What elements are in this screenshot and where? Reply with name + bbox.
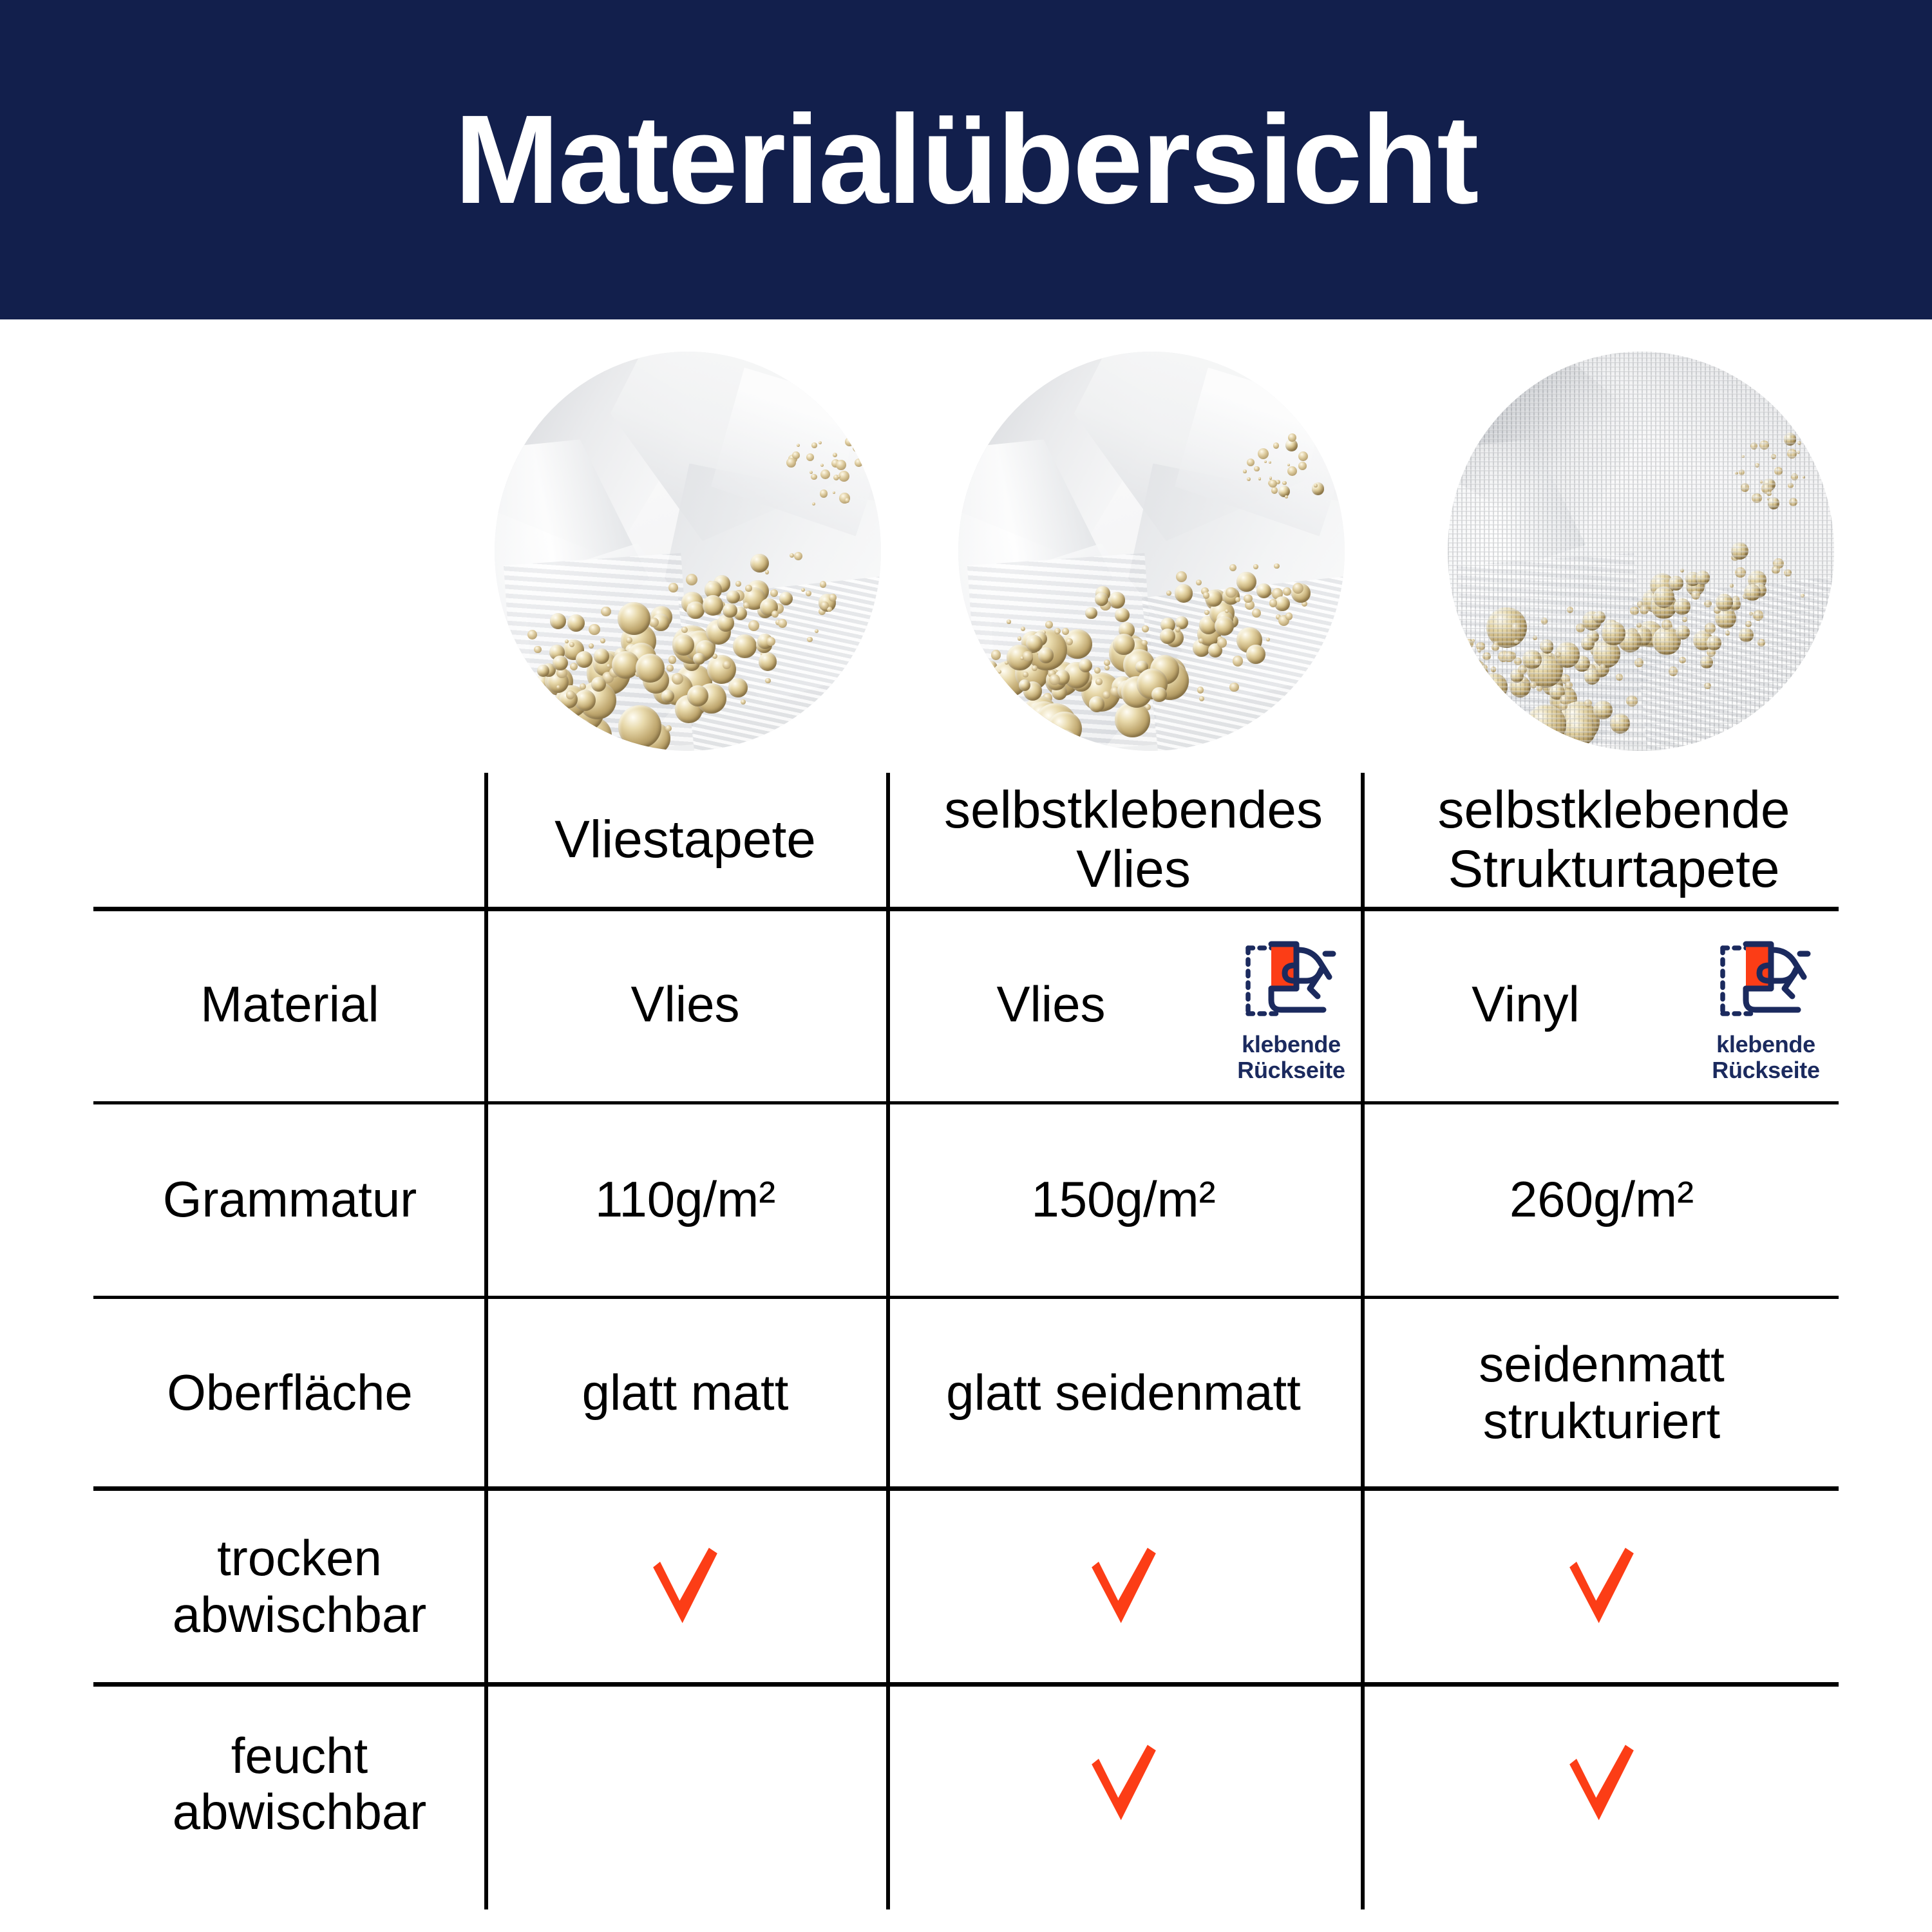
cell-grammatur-col2: 150g/m²	[890, 1104, 1357, 1295]
peel-sticker-hand-icon	[1238, 933, 1345, 1029]
cell-grammatur-col3: 260g/m²	[1365, 1104, 1839, 1295]
column-header-3: selbstklebende Strukturtapete	[1376, 773, 1839, 907]
check-feucht-col3	[1365, 1687, 1839, 1880]
cell-oberflaeche-col1: glatt matt	[488, 1299, 882, 1486]
check-feucht-col2	[890, 1687, 1357, 1880]
cell-oberflaeche-col3: seidenmatt strukturiert	[1365, 1299, 1839, 1486]
peel-sticker-hand-icon	[1713, 933, 1819, 1029]
cell-material-col1: Vlies	[488, 909, 882, 1100]
checkmark-icon	[1560, 1739, 1643, 1829]
row-divider-oberflaeche	[93, 1486, 1839, 1491]
check-trocken-col1	[488, 1491, 882, 1682]
checkmark-icon	[643, 1542, 727, 1632]
checkmark-icon	[1082, 1542, 1166, 1632]
check-trocken-col3	[1365, 1491, 1839, 1682]
column-header-2: selbstklebendes Vlies	[902, 773, 1352, 907]
sticky-back-label-col2: klebende Rückseite	[1237, 1032, 1345, 1084]
cell-material-col2: Vlies	[890, 909, 1212, 1100]
row-label-trocken-abwischbar: trocken abwischbar	[97, 1491, 483, 1682]
check-trocken-col2	[890, 1491, 1357, 1682]
sticky-back-badge-col2: klebende Rückseite	[1211, 933, 1372, 1084]
row-label-oberflaeche: Oberfläche	[97, 1299, 483, 1486]
checkmark-icon	[1082, 1739, 1166, 1829]
sticky-back-label-col3: klebende Rückseite	[1712, 1032, 1819, 1084]
checkmark-icon	[1560, 1542, 1643, 1632]
row-label-feucht-abwischbar: feucht abwischbar	[97, 1687, 483, 1880]
material-overview-page: Materialübersicht	[0, 0, 1932, 1932]
column-header-1: Vliestapete	[488, 773, 882, 907]
row-divider-trocken	[93, 1682, 1839, 1687]
sticky-back-badge-col3: klebende Rückseite	[1685, 933, 1846, 1084]
row-label-material: Material	[97, 909, 483, 1100]
cell-oberflaeche-col2: glatt seidenmatt	[890, 1299, 1357, 1486]
material-comparison-table: Vliestapete selbstklebendes Vlies selbst…	[0, 0, 1932, 1932]
row-label-grammatur: Grammatur	[97, 1104, 483, 1295]
check-feucht-col1	[488, 1687, 882, 1880]
cell-material-col3: Vinyl	[1365, 909, 1687, 1100]
cell-grammatur-col1: 110g/m²	[488, 1104, 882, 1295]
